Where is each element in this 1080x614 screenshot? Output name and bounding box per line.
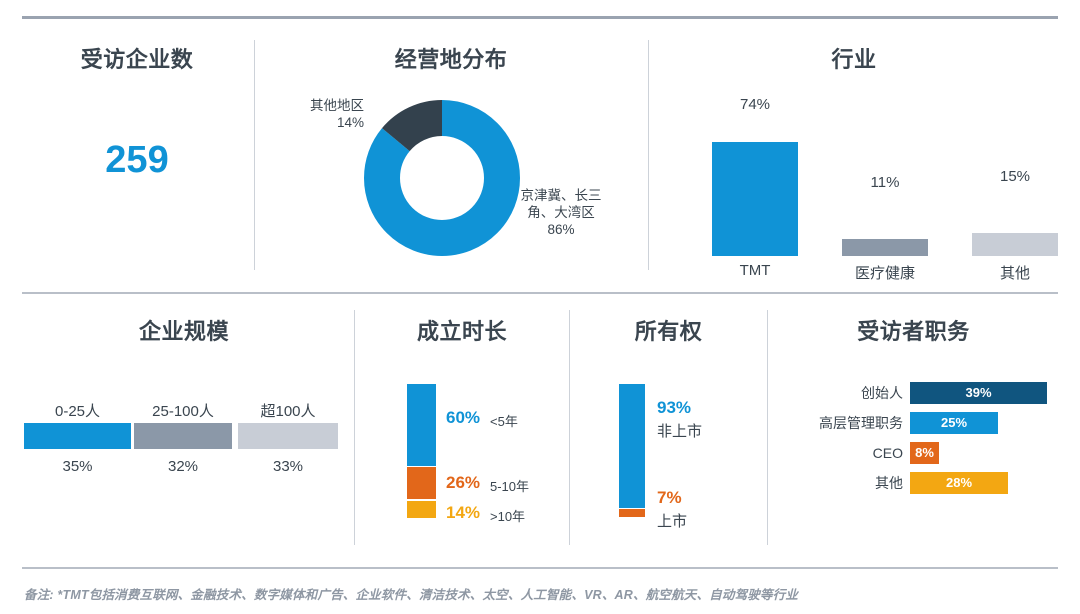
ownership-value-1: 7% (657, 488, 682, 508)
middle-divider-rule (22, 292, 1058, 294)
founded-bar-2 (407, 501, 436, 518)
footnote-divider-rule (22, 567, 1058, 569)
industry-bar-1 (842, 239, 928, 256)
industry-column-1: 11% (842, 98, 928, 256)
founded-category-0: <5年 (490, 411, 518, 430)
panel-respondent-count: 受访企业数 259 (22, 36, 252, 270)
founded-value-1: 26% (446, 473, 480, 493)
panel-company-size: 企业规模 0-25人 25-100人 超100人 35% 32% 33% (16, 308, 352, 546)
donut-label-other-pct: 14% (337, 115, 364, 130)
industry-column-0: 74% (712, 98, 798, 256)
panel-title-job-title: 受访者职务 (769, 314, 1058, 346)
industry-column-2: 15% (972, 98, 1058, 256)
donut-label-main-pct: 86% (547, 222, 574, 237)
panel-industry: 行业 74% TMT 11% 医疗健康 15% 其他 (650, 36, 1058, 270)
ownership-bar-0 (619, 384, 645, 508)
founded-value-0: 60% (446, 408, 480, 428)
panel-title-ownership: 所有权 (571, 314, 766, 346)
job-title-bar-3: 28% (910, 472, 1008, 494)
donut-label-main-line2: 角、大湾区 (527, 205, 595, 220)
ownership-bar-1 (619, 509, 645, 517)
company-size-bar-0 (24, 423, 131, 449)
industry-category-0: TMT (712, 262, 798, 279)
industry-value-1: 11% (842, 174, 928, 191)
founded-bar-0 (407, 384, 436, 466)
job-title-category-0: 创始人 (769, 382, 903, 404)
panel-title-location: 经营地分布 (256, 42, 646, 74)
industry-bar-2 (972, 233, 1058, 256)
row2-divider-1 (354, 310, 355, 545)
job-title-bar-0: 39% (910, 382, 1047, 404)
donut-label-other: 其他地区 14% (248, 98, 364, 132)
company-size-category-0: 0-25人 (24, 400, 131, 421)
donut-label-main-line1: 京津冀、长三 (521, 188, 602, 203)
panel-location-distribution: 经营地分布 其他地区 14% 京津冀、长三 角、大湾区 86% (256, 36, 646, 270)
ownership-value-0: 93% (657, 398, 691, 418)
founded-category-1: 5-10年 (490, 476, 529, 495)
job-title-category-3: 其他 (769, 472, 903, 494)
job-title-bar-2: 8% (910, 442, 939, 464)
row1-divider-1 (254, 40, 255, 270)
job-title-bar-1: 25% (910, 412, 998, 434)
company-size-value-0: 35% (24, 458, 131, 475)
industry-value-2: 15% (972, 168, 1058, 185)
row2-divider-3 (767, 310, 768, 545)
industry-value-0: 74% (712, 96, 798, 113)
panel-title-founded: 成立时长 (356, 314, 568, 346)
company-size-bar-1 (134, 423, 232, 449)
top-divider-rule (22, 16, 1058, 19)
company-size-category-1: 25-100人 (134, 400, 232, 421)
job-title-value-3: 28% (910, 472, 1008, 494)
donut-label-other-name: 其他地区 (310, 98, 364, 113)
job-title-category-1: 高层管理职务 (769, 412, 903, 434)
founded-category-2: >10年 (490, 506, 525, 525)
industry-bar-0 (712, 142, 798, 256)
respondent-count-value: 259 (22, 139, 252, 182)
footnote-text: 备注: *TMT包括消费互联网、金融技术、数字媒体和广告、企业软件、清洁技术、太… (24, 584, 798, 603)
industry-category-1: 医疗健康 (842, 262, 928, 283)
job-title-value-0: 39% (910, 382, 1047, 404)
panel-founded-duration: 成立时长 60% <5年 26% 5-10年 14% >10年 (356, 308, 568, 546)
donut-label-main: 京津冀、长三 角、大湾区 86% (496, 188, 626, 239)
company-size-bar-2 (238, 423, 338, 449)
company-size-category-2: 超100人 (238, 400, 338, 421)
panel-job-title: 受访者职务 创始人 39% 高层管理职务 25% CEO 8% 其他 28% (769, 308, 1058, 546)
job-title-category-2: CEO (769, 442, 903, 464)
panel-title-respondent-count: 受访企业数 (22, 42, 252, 74)
company-size-value-1: 32% (134, 458, 232, 475)
industry-category-2: 其他 (972, 262, 1058, 283)
row1-divider-2 (648, 40, 649, 270)
panel-title-industry: 行业 (650, 42, 1058, 74)
row2-divider-2 (569, 310, 570, 545)
founded-bar-1 (407, 467, 436, 499)
founded-value-2: 14% (446, 503, 480, 523)
ownership-category-1: 上市 (657, 510, 687, 531)
job-title-value-2: 8% (910, 442, 939, 464)
company-size-value-2: 33% (238, 458, 338, 475)
job-title-value-1: 25% (910, 412, 998, 434)
panel-title-company-size: 企业规模 (16, 314, 352, 346)
infographic-canvas: 受访企业数 259 经营地分布 其他地区 14% 京津冀、长三 角、大湾区 86… (0, 0, 1080, 614)
panel-ownership: 所有权 93% 非上市 7% 上市 (571, 308, 766, 546)
ownership-category-0: 非上市 (657, 420, 702, 441)
